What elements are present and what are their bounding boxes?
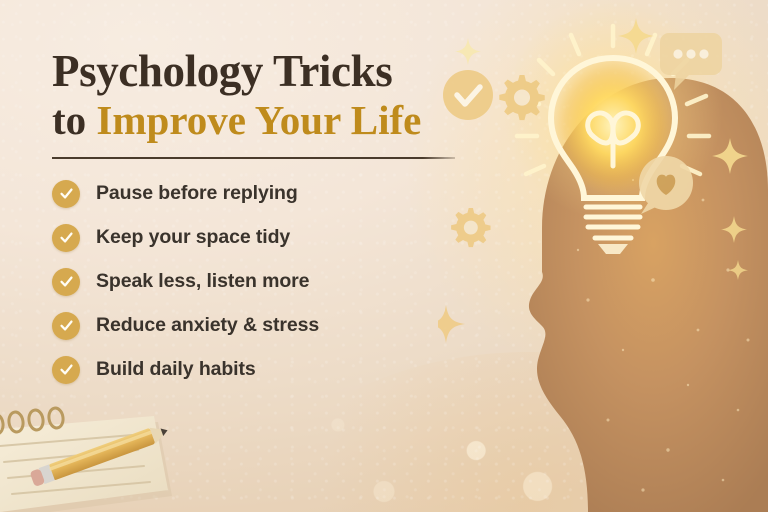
list-item-label: Build daily habits — [96, 358, 256, 381]
list-item: Build daily habits — [52, 355, 482, 385]
list-item: Speak less, listen more — [52, 267, 482, 297]
list-item: Pause before replying — [52, 179, 482, 209]
list-item-label: Speak less, listen more — [96, 270, 309, 293]
content-block: Psychology Tricks to Improve Your Life P… — [52, 48, 482, 399]
subtitle-prefix: to — [52, 97, 96, 143]
poster-canvas: Psychology Tricks to Improve Your Life P… — [0, 0, 768, 512]
tips-list: Pause before replying Keep your space ti… — [52, 179, 482, 385]
check-icon — [52, 180, 80, 208]
page-subtitle: to Improve Your Life — [52, 98, 482, 144]
list-item: Reduce anxiety & stress — [52, 311, 482, 341]
gear-icon — [499, 75, 544, 120]
title-divider — [52, 157, 455, 159]
list-item: Keep your space tidy — [52, 223, 482, 253]
illustration-head-lightbulb — [438, 0, 768, 512]
list-item-label: Keep your space tidy — [96, 226, 290, 249]
page-title: Psychology Tricks — [52, 48, 482, 96]
check-icon — [52, 312, 80, 340]
check-icon — [52, 224, 80, 252]
subtitle-accent: Improve Your Life — [96, 97, 421, 143]
list-item-label: Reduce anxiety & stress — [96, 314, 319, 337]
list-item-label: Pause before replying — [96, 182, 298, 205]
check-icon — [52, 356, 80, 384]
check-icon — [52, 268, 80, 296]
spiral-notepad-with-pencil — [0, 400, 216, 512]
